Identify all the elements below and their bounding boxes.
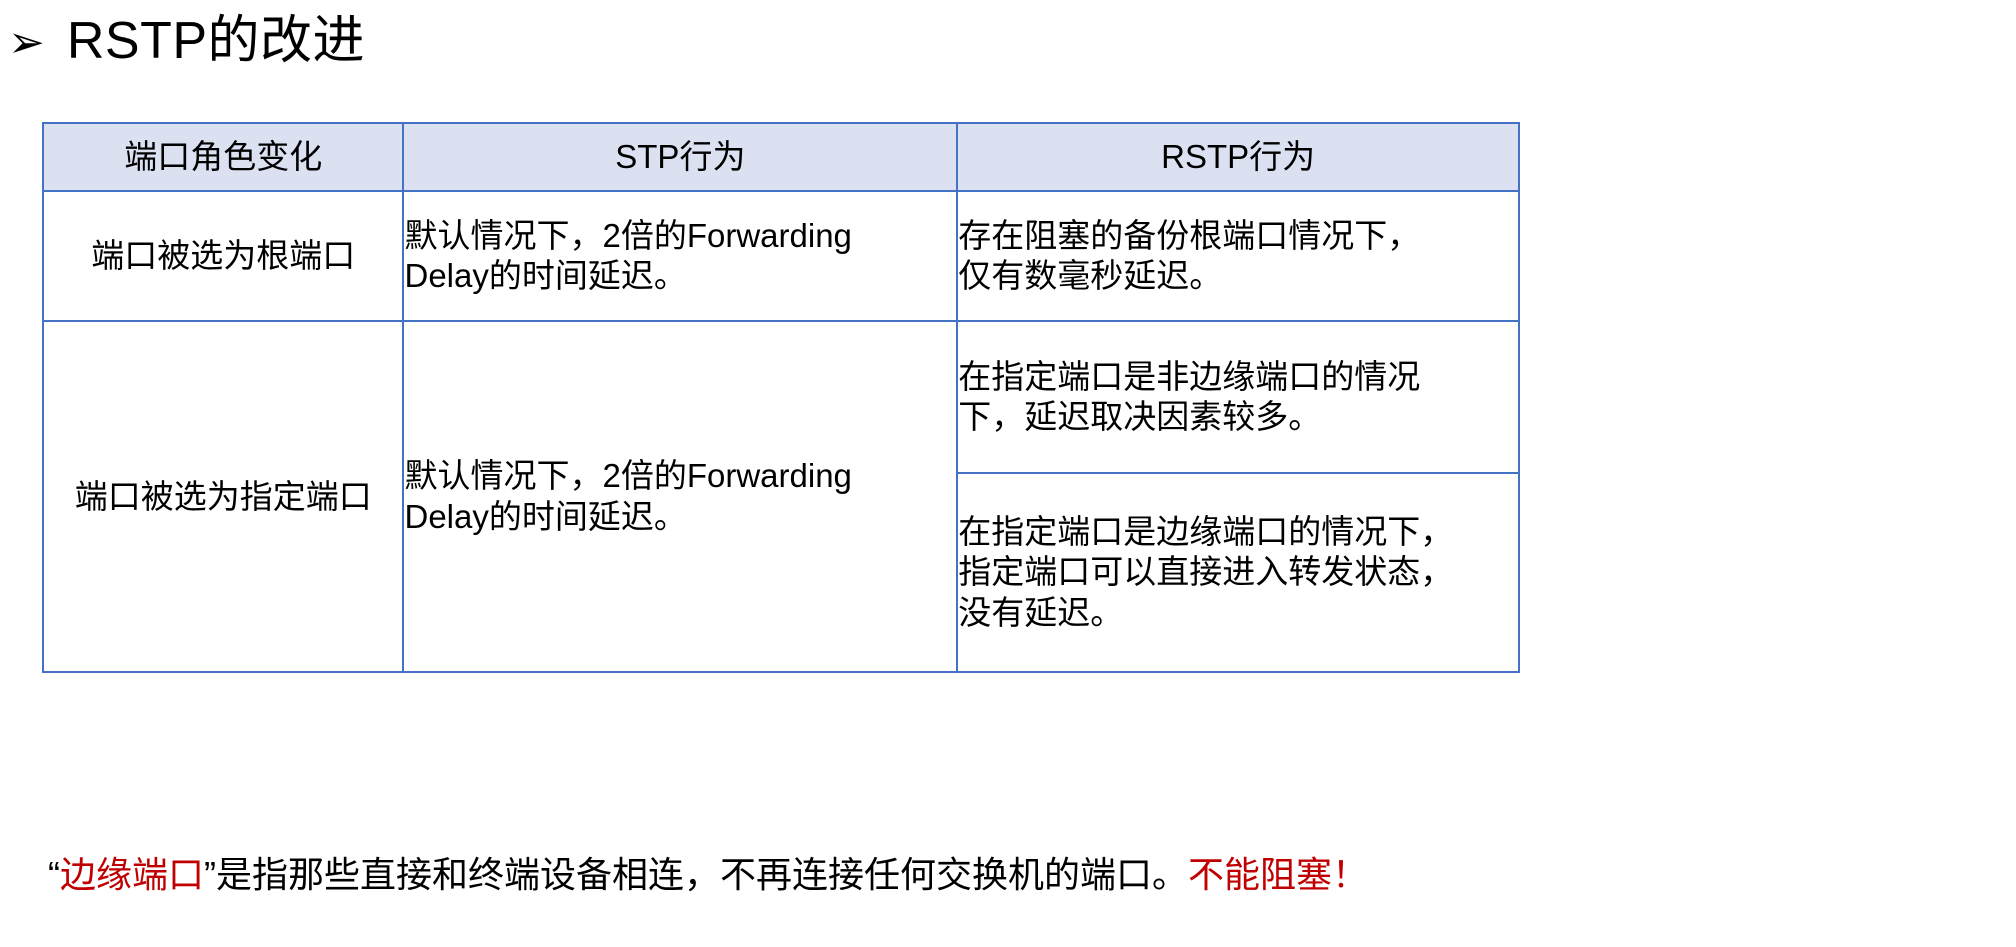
cell-text-line: 仅有数毫秒延迟。: [958, 256, 1518, 296]
cell-rstp-designated-edge: 在指定端口是边缘端口的情况下， 指定端口可以直接进入转发状态， 没有延迟。: [957, 473, 1519, 672]
cell-text-line: 在指定端口是边缘端口的情况下，: [958, 512, 1518, 552]
cell-text-line: 在指定端口是非边缘端口的情况: [958, 357, 1518, 397]
footnote-quote-open: “: [48, 854, 60, 895]
table-header-row: 端口角色变化 STP行为 RSTP行为: [43, 123, 1519, 191]
cell-text-line: Delay的时间延迟。: [404, 497, 956, 537]
cell-text-line: Delay的时间延迟。: [404, 256, 956, 296]
cell-text-line: 默认情况下，2倍的Forwarding: [404, 216, 956, 256]
cell-text-line: 指定端口可以直接进入转发状态，: [958, 552, 1518, 592]
cell-stp-root-port: 默认情况下，2倍的Forwarding Delay的时间延迟。: [403, 191, 957, 321]
header-cell-stp-behavior: STP行为: [403, 123, 957, 191]
cell-text-line: 默认情况下，2倍的Forwarding: [404, 456, 956, 496]
cell-text-line: 下，延迟取决因素较多。: [958, 397, 1518, 437]
header-cell-port-role-change: 端口角色变化: [43, 123, 403, 191]
footnote-term-edge-port: 边缘端口: [60, 854, 204, 895]
footnote-body-text: 是指那些直接和终端设备相连，不再连接任何交换机的端口。: [216, 854, 1188, 895]
row-label-root-port: 端口被选为根端口: [43, 191, 403, 321]
header-cell-rstp-behavior: RSTP行为: [957, 123, 1519, 191]
table-row: 端口被选为指定端口 默认情况下，2倍的Forwarding Delay的时间延迟…: [43, 321, 1519, 473]
cell-stp-designated-port: 默认情况下，2倍的Forwarding Delay的时间延迟。: [403, 321, 957, 672]
row-label-designated-port: 端口被选为指定端口: [43, 321, 403, 672]
cell-text-line: 没有延迟。: [958, 593, 1518, 633]
cell-rstp-designated-nonedge: 在指定端口是非边缘端口的情况 下，延迟取决因素较多。: [957, 321, 1519, 473]
table-row: 端口被选为根端口 默认情况下，2倍的Forwarding Delay的时间延迟。…: [43, 191, 1519, 321]
rstp-comparison-table: 端口角色变化 STP行为 RSTP行为 端口被选为根端口 默认情况下，2倍的Fo…: [42, 122, 1520, 673]
cell-text-line: 存在阻塞的备份根端口情况下，: [958, 216, 1518, 256]
page-title: ➢ RSTP的改进: [8, 14, 365, 69]
footnote-emphasis-text: 不能阻塞！: [1188, 854, 1368, 895]
cell-rstp-root-port: 存在阻塞的备份根端口情况下， 仅有数毫秒延迟。: [957, 191, 1519, 321]
footnote-edge-port-definition: “边缘端口”是指那些直接和终端设备相连，不再连接任何交换机的端口。不能阻塞！: [48, 852, 1368, 897]
title-text: RSTP的改进: [67, 14, 365, 69]
footnote-quote-close: ”: [204, 854, 216, 895]
bullet-arrow-icon: ➢: [8, 21, 45, 65]
